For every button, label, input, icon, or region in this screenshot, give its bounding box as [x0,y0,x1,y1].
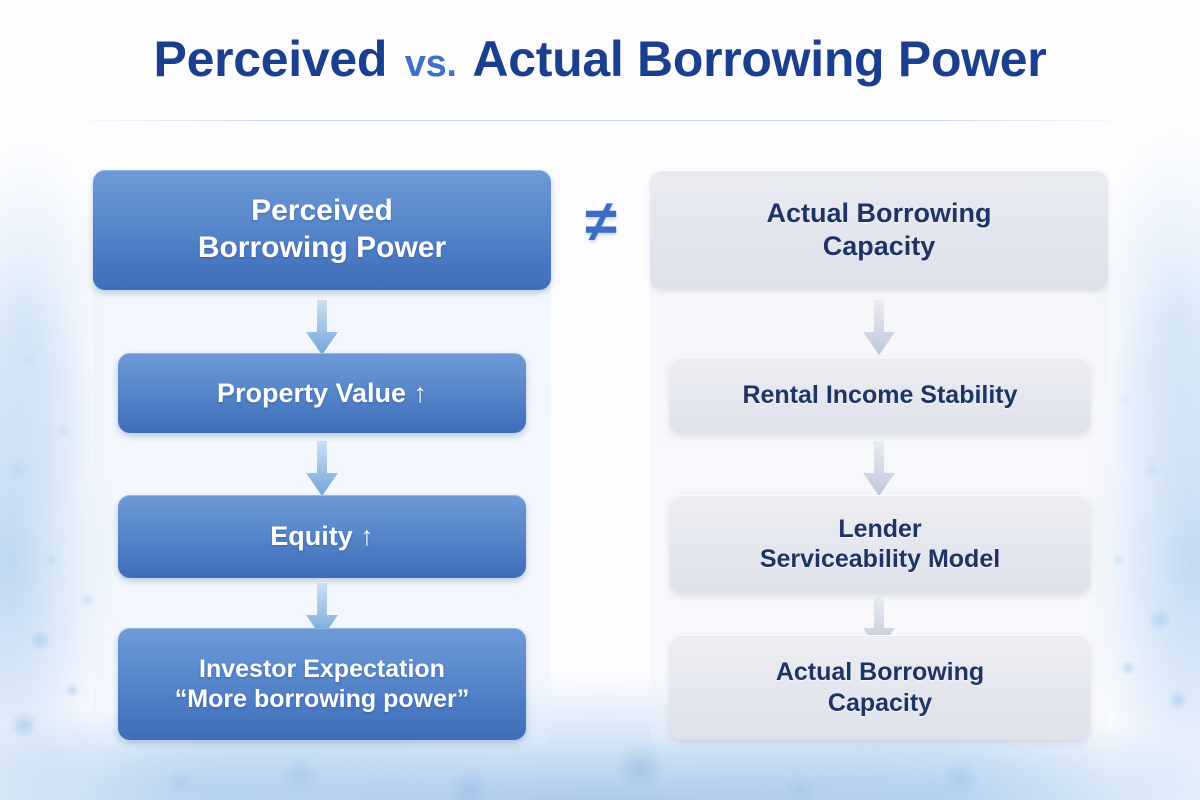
node-equity[interactable]: Equity ↑ [118,495,526,578]
page-title: Perceived vs. Actual Borrowing Power [0,30,1200,88]
title-part-perceived: Perceived [154,31,388,87]
node-line-1: Rental Income Stability [742,380,1017,411]
node-line-1: Perceived [198,193,446,230]
node-line-1: Investor Expectation [175,654,469,685]
node-lender-serviceability-model[interactable]: Lender Serviceability Model [670,495,1090,593]
node-investor-expectation[interactable]: Investor Expectation “More borrowing pow… [118,628,526,740]
down-arrow-icon-left-1 [305,300,339,358]
node-line-1: Lender [760,514,1000,545]
infographic-canvas: Perceived vs. Actual Borrowing Power Per… [0,0,1200,800]
title-vs: vs. [401,43,461,85]
node-actual-borrowing-capacity-header[interactable]: Actual Borrowing Capacity [650,170,1108,290]
node-rental-income-stability[interactable]: Rental Income Stability [670,357,1090,433]
title-part-actual: Actual Borrowing Power [472,31,1046,87]
node-line-1: Actual Borrowing [766,197,991,230]
node-perceived-borrowing-power[interactable]: Perceived Borrowing Power [93,170,551,290]
node-line-2: Serviceability Model [760,544,1000,575]
node-actual-borrowing-capacity[interactable]: Actual Borrowing Capacity [670,635,1090,740]
node-line-2: “More borrowing power” [175,684,469,715]
node-line-2: Capacity [766,230,991,263]
down-arrow-icon-right-1 [862,300,896,358]
node-line-1: Actual Borrowing [776,657,984,688]
down-arrow-icon-left-2 [305,441,339,499]
down-arrow-icon-right-2 [862,441,896,499]
title-divider [60,120,1140,121]
node-line-2: Capacity [776,688,984,719]
node-line-1: Equity ↑ [270,520,374,553]
not-equal-icon: ≠ [570,193,632,251]
node-line-1: Property Value ↑ [217,377,427,410]
node-line-2: Borrowing Power [198,230,446,267]
node-property-value[interactable]: Property Value ↑ [118,353,526,433]
